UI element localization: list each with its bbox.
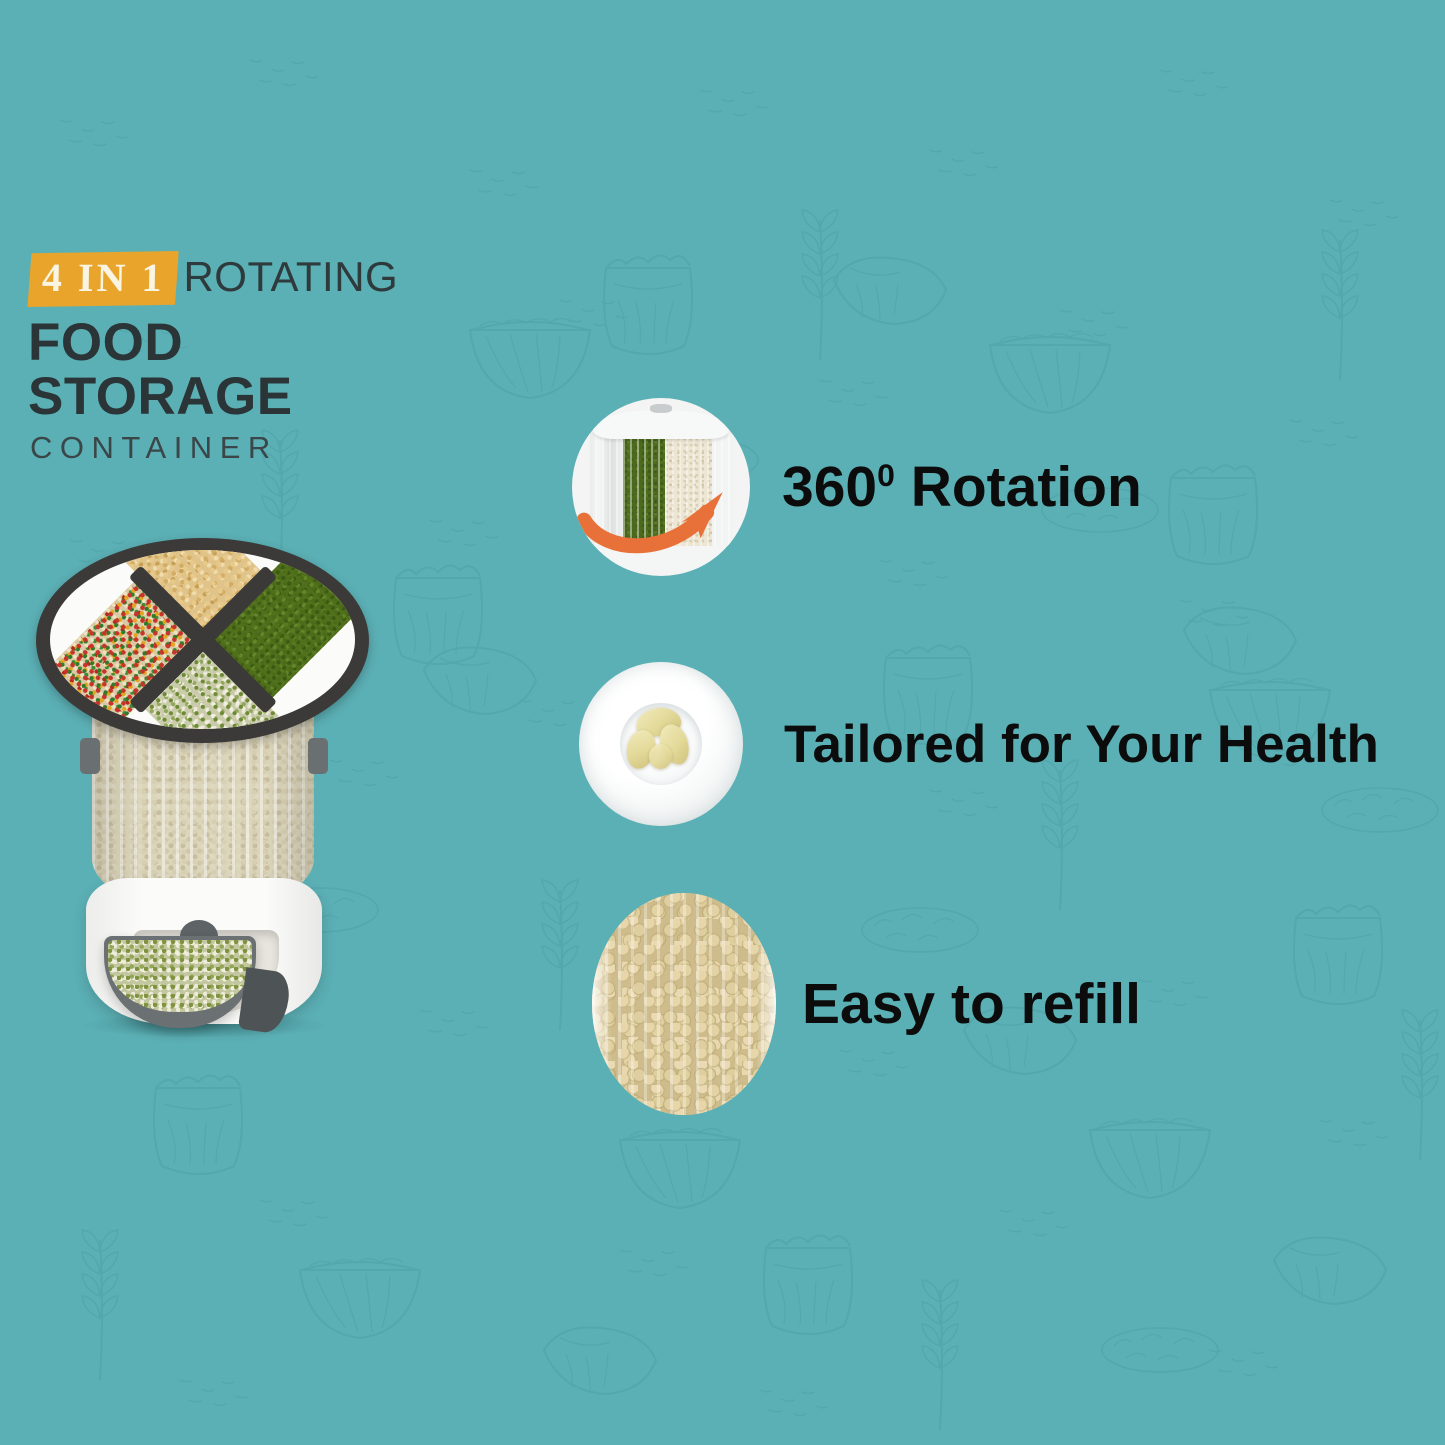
feature-rotation: 3600 Rotation bbox=[572, 398, 1142, 576]
feature-health-label: Tailored for Your Health bbox=[784, 718, 1379, 771]
garlic-plate-photo bbox=[572, 655, 750, 833]
headline-sub: CONTAINER bbox=[30, 432, 458, 463]
feature-health: Tailored for Your Health bbox=[572, 655, 1379, 833]
lid-knob bbox=[650, 404, 671, 413]
product-top-compartments bbox=[36, 538, 369, 743]
compartment-tray bbox=[50, 550, 355, 729]
garlic-clove bbox=[649, 744, 672, 769]
infographic-canvas: 4 IN 1 ROTATING FOOD STORAGE CONTAINER bbox=[0, 0, 1445, 1445]
feature-rotation-label: 3600 Rotation bbox=[782, 459, 1142, 516]
feature-refill: Easy to refill bbox=[592, 893, 1141, 1115]
product-photo bbox=[30, 538, 375, 1098]
glass-rib-texture bbox=[592, 893, 776, 1115]
rotation-label-rest: Rotation bbox=[895, 455, 1142, 519]
headline-main: FOOD STORAGE bbox=[28, 316, 458, 424]
rotation-arrow-icon bbox=[576, 476, 747, 558]
rotating-container-photo bbox=[572, 398, 750, 576]
barrel-clip-left bbox=[80, 738, 100, 774]
tray-grain-contents bbox=[108, 940, 252, 1012]
feature-refill-label: Easy to refill bbox=[802, 976, 1141, 1033]
headline-first-line: 4 IN 1 ROTATING bbox=[28, 255, 458, 307]
barrel-clip-right bbox=[308, 738, 328, 774]
four-in-one-badge: 4 IN 1 bbox=[28, 251, 179, 307]
rotation-degrees-value: 360 bbox=[782, 455, 877, 519]
headline-rotating-word: ROTATING bbox=[183, 256, 398, 307]
headline-block: 4 IN 1 ROTATING FOOD STORAGE CONTAINER bbox=[28, 255, 458, 463]
chickpea-fill-photo bbox=[592, 893, 776, 1115]
container-left-edge bbox=[592, 893, 612, 1115]
rotation-degree-symbol: 0 bbox=[877, 457, 895, 493]
container-right-edge bbox=[756, 893, 776, 1115]
container-lid bbox=[593, 410, 728, 438]
